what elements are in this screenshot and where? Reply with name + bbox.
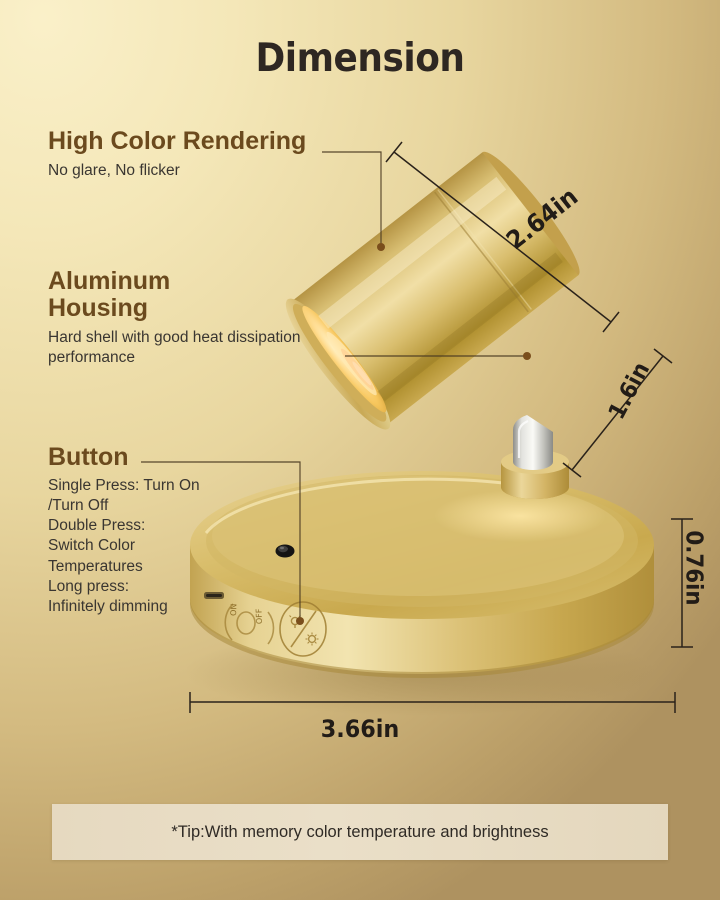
instruction-line: /Turn Off bbox=[48, 496, 200, 516]
tip-text: *Tip:With memory color temperature and b… bbox=[171, 823, 548, 842]
instruction-line: Double Press: bbox=[48, 516, 200, 536]
instruction-line: Long press: bbox=[48, 577, 200, 597]
callout-button: Button Single Press: Turn On /Turn Off D… bbox=[48, 444, 200, 617]
callout-high-color-rendering: High Color Rendering No glare, No flicke… bbox=[48, 128, 306, 181]
callout-heading: Aluminum Housing bbox=[48, 268, 300, 322]
svg-text:OFF: OFF bbox=[254, 608, 264, 624]
callout-body: Hard shell with good heat dissipation pe… bbox=[48, 328, 300, 369]
svg-text:ON: ON bbox=[229, 603, 238, 616]
callout-button-instructions: Single Press: Turn On /Turn Off Double P… bbox=[48, 476, 200, 617]
tip-banner: *Tip:With memory color temperature and b… bbox=[52, 804, 668, 860]
instruction-line: Switch Color bbox=[48, 536, 200, 556]
callout-heading: High Color Rendering bbox=[48, 128, 306, 155]
instruction-line: Temperatures bbox=[48, 557, 200, 577]
dimension-label-base-diameter: 3.66in bbox=[25, 715, 695, 743]
infographic-page: Dimension bbox=[0, 0, 720, 900]
instruction-line: Single Press: Turn On bbox=[48, 476, 200, 496]
callout-heading: Button bbox=[48, 444, 200, 471]
callout-aluminum-housing: Aluminum Housing Hard shell with good he… bbox=[48, 268, 300, 369]
instruction-line: Infinitely dimming bbox=[48, 597, 200, 617]
dimension-label-base-height: 0.76in bbox=[681, 530, 707, 605]
usb-port-icon bbox=[204, 592, 224, 599]
callout-body: No glare, No flicker bbox=[48, 161, 306, 181]
